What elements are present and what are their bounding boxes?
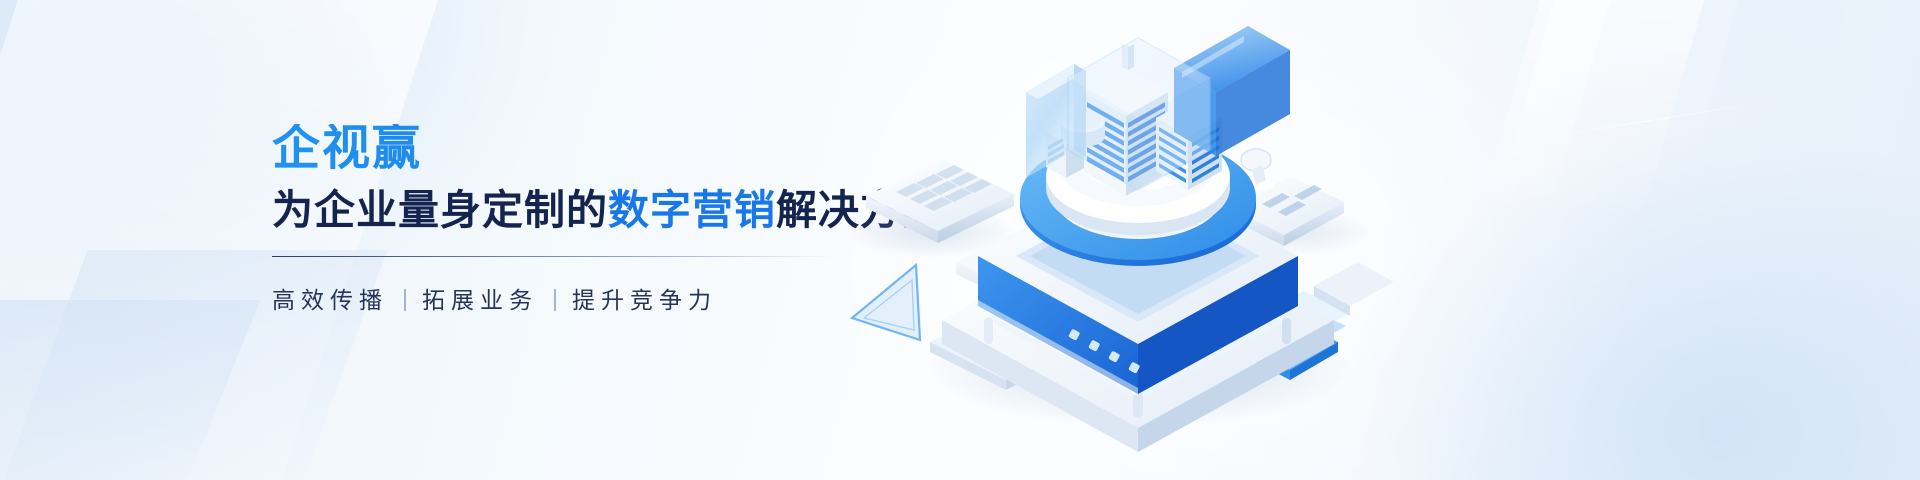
tagline-item-1: 高效传播 <box>272 281 388 315</box>
background-hairline-3 <box>1541 103 1758 138</box>
headline-text-highlight: 数字营销 <box>608 187 776 233</box>
tagline-separator-2: | <box>552 285 558 312</box>
wireframe-triangle <box>852 265 920 340</box>
brand-name: 企视赢 <box>272 124 912 174</box>
banner-copy-block: 企视赢 为企业量身定制的数字营销解决方案 高效传播 | 拓展业务 | 提升竞争力 <box>272 124 912 315</box>
background-shape-5 <box>1684 0 1866 190</box>
tagline-item-3: 提升竞争力 <box>572 281 717 315</box>
banner-headline: 为企业量身定制的数字营销解决方案 <box>272 188 912 234</box>
tagline-item-2: 拓展业务 <box>422 281 538 315</box>
headline-divider <box>272 256 834 257</box>
banner-tagline: 高效传播 | 拓展业务 | 提升竞争力 <box>272 281 912 315</box>
marketing-banner: 企视赢 为企业量身定制的数字营销解决方案 高效传播 | 拓展业务 | 提升竞争力 <box>0 0 1920 480</box>
hero-illustration <box>838 0 1538 480</box>
background-shape-3 <box>0 300 260 480</box>
tagline-separator-1: | <box>402 285 408 312</box>
headline-text-before: 为企业量身定制的 <box>272 187 608 233</box>
